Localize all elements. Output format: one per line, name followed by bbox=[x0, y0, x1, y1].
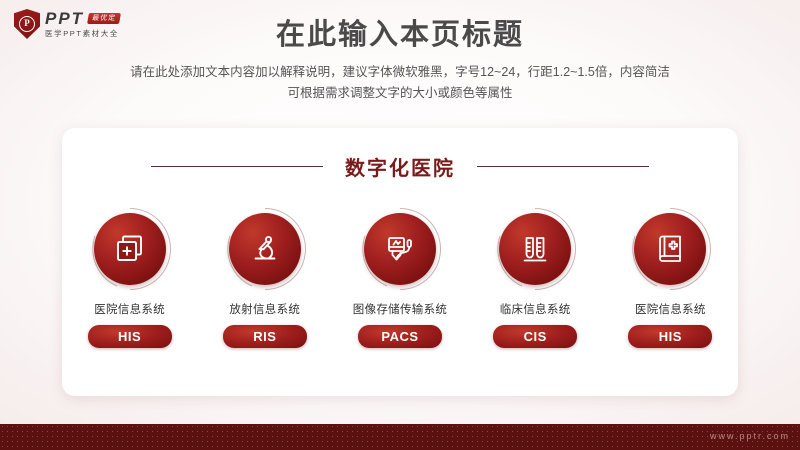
status-badge: CIS bbox=[493, 325, 577, 348]
header-divider-left bbox=[151, 166, 323, 167]
content-card: 数字化医院 bbox=[62, 128, 738, 396]
icon-circle-wrap bbox=[627, 206, 713, 292]
status-badge: HIS bbox=[628, 325, 712, 348]
page-subtitle: 请在此处添加文本内容加以解释说明，建议字体微软雅黑，字号12~24，行距1.2~… bbox=[0, 62, 800, 104]
list-item-label: 医院信息系统 bbox=[94, 301, 165, 317]
system-items-row: 医院信息系统 HIS bbox=[62, 206, 738, 348]
subtitle-line-2: 可根据需求调整文字的大小或颜色等属性 bbox=[0, 83, 800, 104]
subtitle-line-1: 请在此处添加文本内容加以解释说明，建议字体微软雅黑，字号12~24，行距1.2~… bbox=[0, 62, 800, 83]
microscope-icon bbox=[229, 213, 301, 285]
medical-records-icon bbox=[94, 213, 166, 285]
status-badge: HIS bbox=[88, 325, 172, 348]
list-item[interactable]: 医院信息系统 HIS bbox=[607, 206, 733, 348]
icon-circle-wrap bbox=[357, 206, 443, 292]
list-item[interactable]: 图像存储传输系统 PACS bbox=[337, 206, 463, 348]
list-item-label: 临床信息系统 bbox=[500, 301, 571, 317]
status-badge: PACS bbox=[358, 325, 442, 348]
slide-canvas: P PPT 最优定 医学PPT素材大全 在此输入本页标题 请在此处添加文本内容加… bbox=[0, 0, 800, 450]
medical-book-icon bbox=[634, 213, 706, 285]
footer-url: www.pptr.com bbox=[710, 431, 790, 441]
header-divider-right bbox=[477, 166, 649, 167]
list-item-label: 放射信息系统 bbox=[229, 301, 300, 317]
page-title: 在此输入本页标题 bbox=[0, 18, 800, 52]
list-item[interactable]: 临床信息系统 CIS bbox=[472, 206, 598, 348]
card-header: 数字化医院 bbox=[62, 152, 738, 181]
section-title: 数字化医院 bbox=[345, 152, 455, 181]
icon-circle-wrap bbox=[492, 206, 578, 292]
list-item-label: 图像存储传输系统 bbox=[353, 301, 447, 317]
icon-circle-wrap bbox=[222, 206, 308, 292]
ultrasound-device-icon bbox=[364, 213, 436, 285]
list-item[interactable]: 放射信息系统 RIS bbox=[202, 206, 328, 348]
list-item-label: 医院信息系统 bbox=[635, 301, 706, 317]
icon-circle-wrap bbox=[87, 206, 173, 292]
status-badge: RIS bbox=[223, 325, 307, 348]
list-item[interactable]: 医院信息系统 HIS bbox=[67, 206, 193, 348]
footer-bar: www.pptr.com bbox=[0, 424, 800, 450]
test-tubes-icon bbox=[499, 213, 571, 285]
